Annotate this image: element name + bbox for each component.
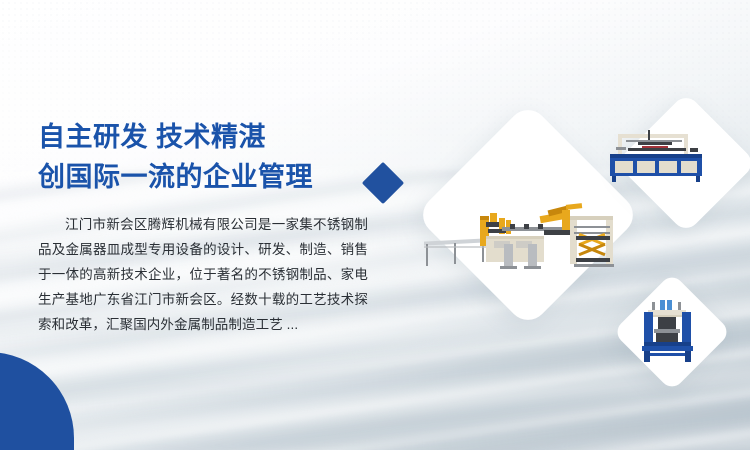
headline-line-1: 自主研发 技术精湛 xyxy=(38,118,383,156)
machine-production-line xyxy=(424,196,614,276)
machine-hydraulic-press xyxy=(638,300,698,362)
company-profile-banner: 自主研发 技术精湛 创国际一流的企业管理 江门市新会区腾辉机械有限公司是一家集不… xyxy=(0,0,750,450)
machine-welding-bench xyxy=(608,130,704,182)
company-description-paragraph: 江门市新会区腾辉机械有限公司是一家集不锈钢制品及金属器皿成型专用设备的设计、研发… xyxy=(38,212,368,337)
headline-line-2: 创国际一流的企业管理 xyxy=(38,158,383,196)
headline-and-copy-block: 自主研发 技术精湛 创国际一流的企业管理 江门市新会区腾辉机械有限公司是一家集不… xyxy=(38,118,383,351)
